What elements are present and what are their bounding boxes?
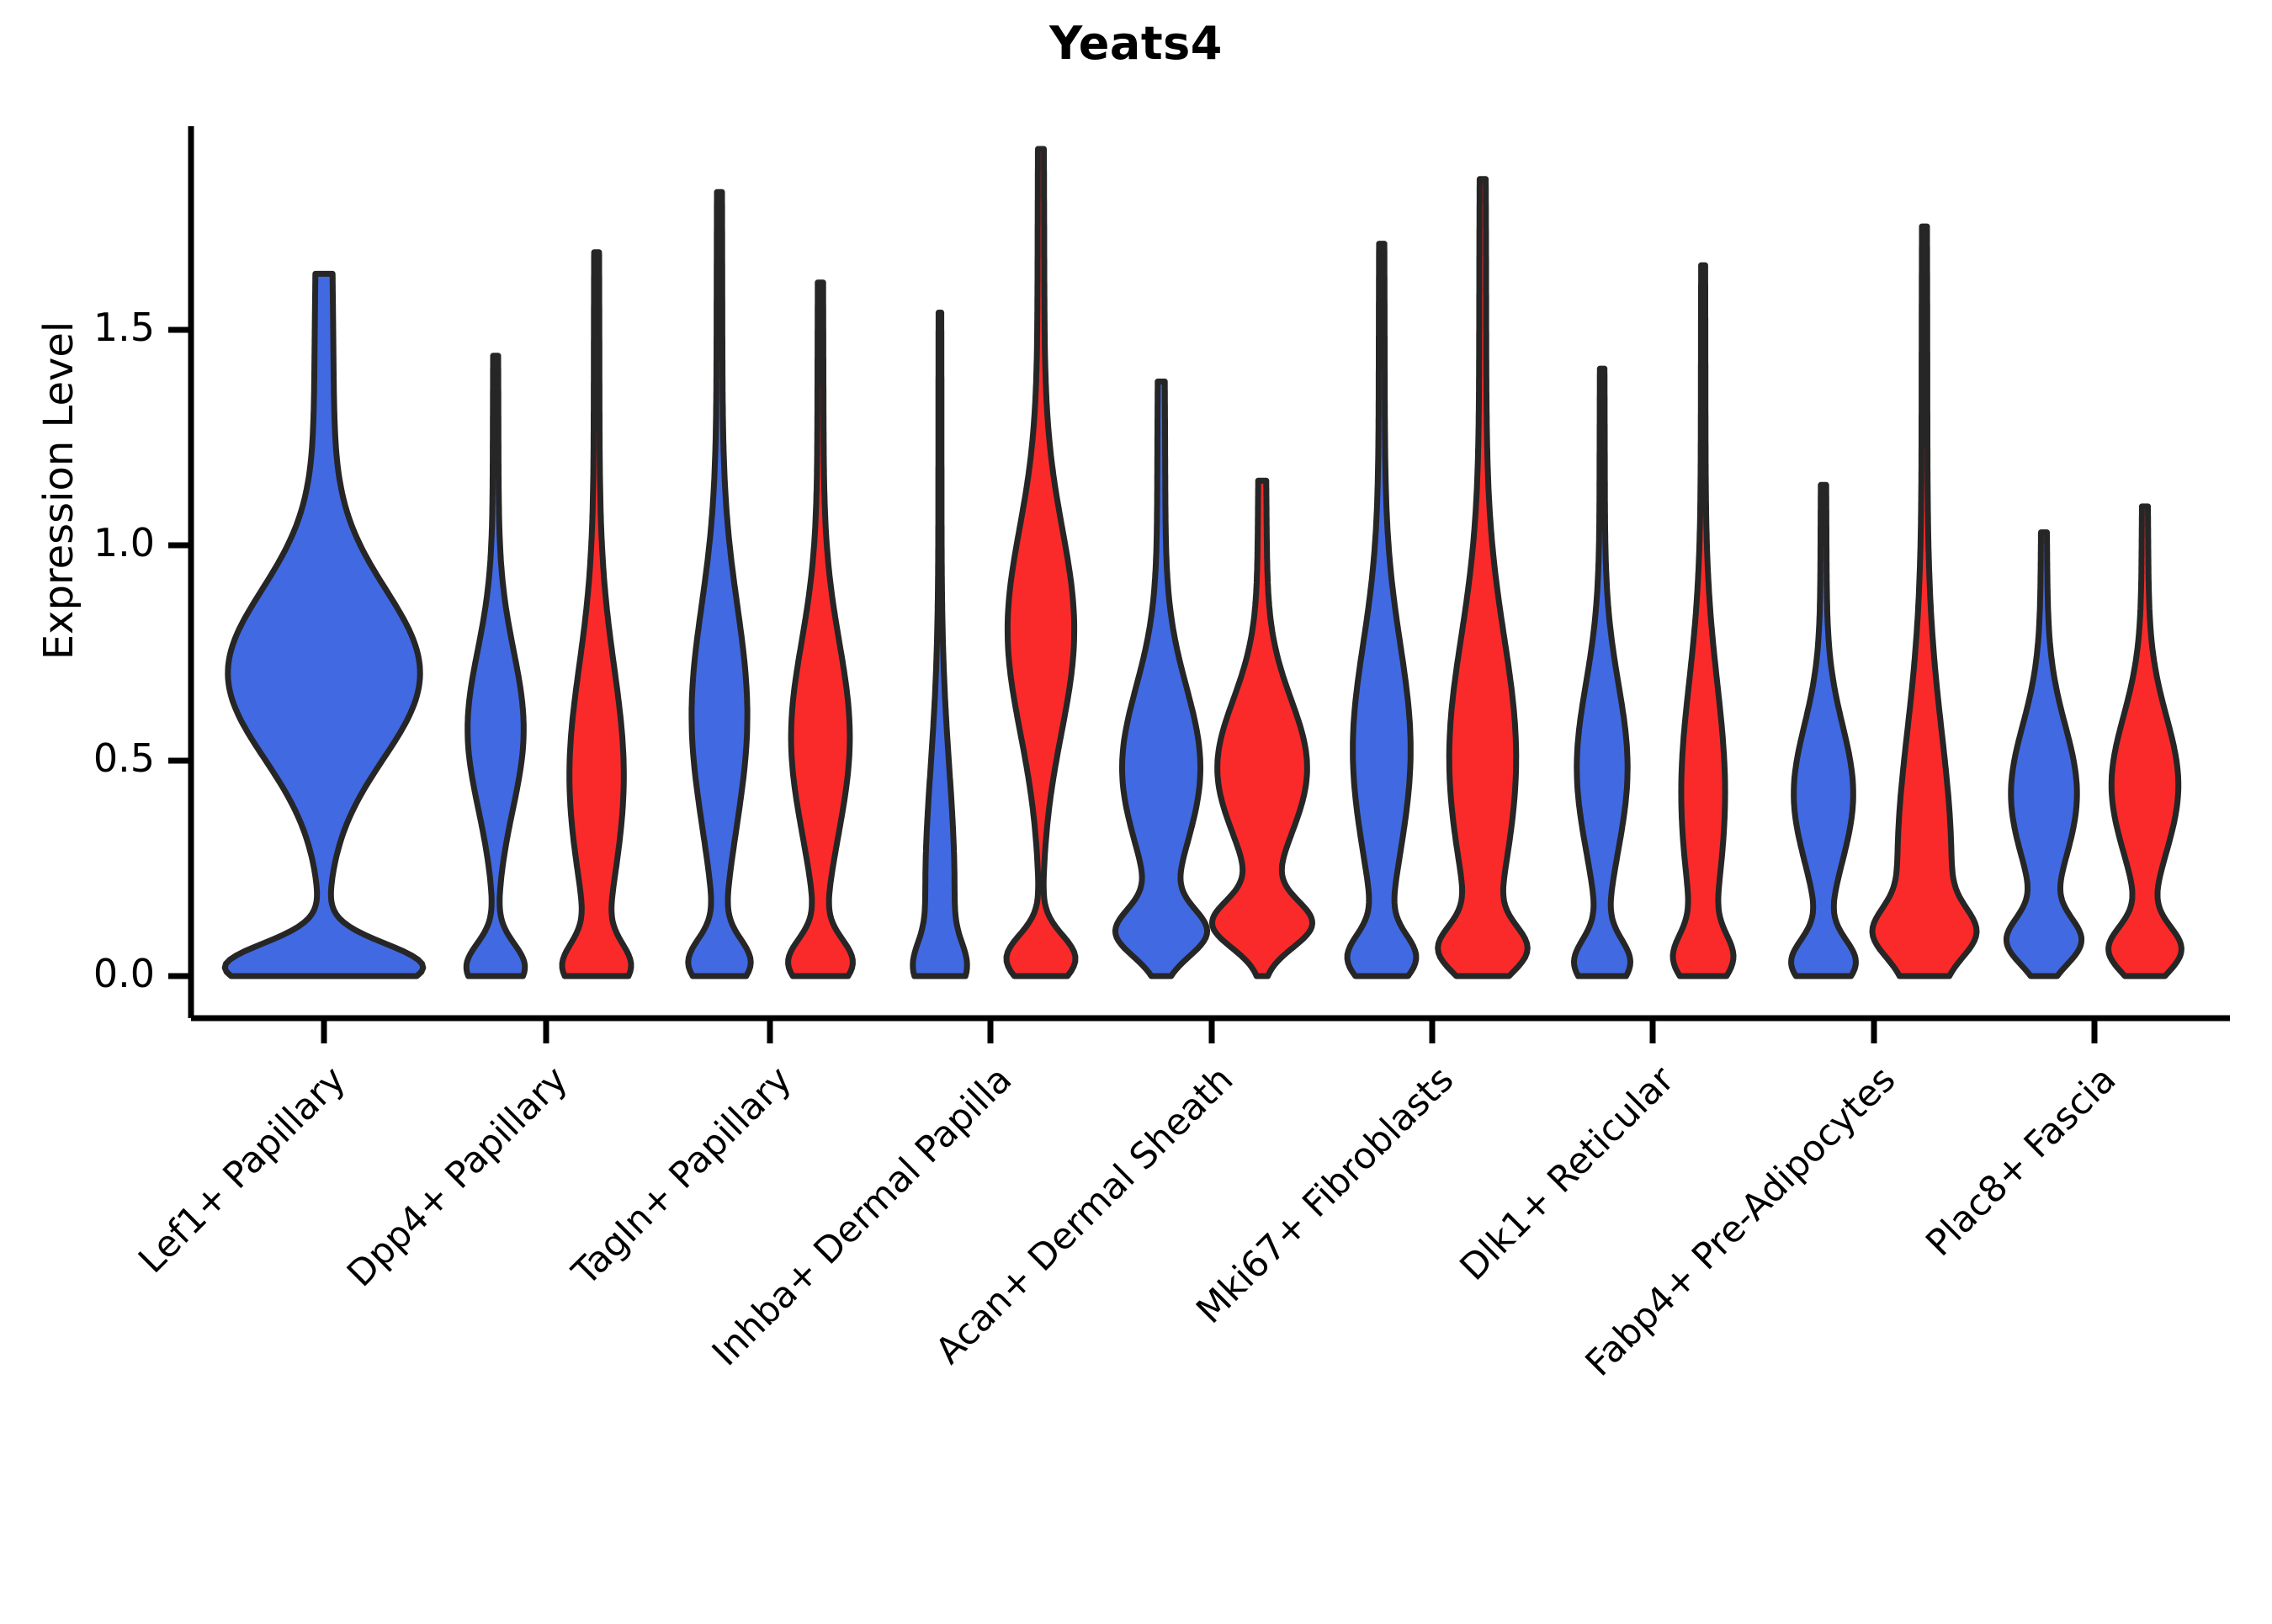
y-tick-label-3: 1.5 — [3, 305, 155, 350]
violin-blue-5[interactable] — [1347, 244, 1416, 976]
violin-red-6[interactable] — [1673, 265, 1733, 976]
violin-red-8[interactable] — [2109, 507, 2182, 976]
violin-red-2[interactable] — [788, 283, 853, 976]
violin-blue-0[interactable] — [225, 273, 423, 976]
y-tick-label-2: 1.0 — [3, 520, 155, 565]
violin-blue-2[interactable] — [688, 192, 751, 976]
violin-layer — [225, 149, 2181, 976]
y-tick-marks — [168, 330, 191, 976]
violin-red-5[interactable] — [1438, 179, 1528, 976]
violin-blue-1[interactable] — [466, 356, 524, 976]
violin-blue-4[interactable] — [1115, 381, 1207, 976]
violin-blue-3[interactable] — [913, 313, 967, 977]
violin-blue-8[interactable] — [2006, 533, 2081, 976]
x-tick-marks — [324, 1018, 2094, 1043]
violin-red-4[interactable] — [1213, 480, 1313, 976]
violin-red-3[interactable] — [1006, 149, 1075, 976]
y-tick-label-1: 0.5 — [3, 735, 155, 781]
violin-red-7[interactable] — [1872, 226, 1977, 976]
violin-blue-7[interactable] — [1792, 485, 1856, 976]
violin-red-1[interactable] — [562, 252, 631, 976]
violin-blue-6[interactable] — [1574, 369, 1631, 976]
y-tick-label-0: 0.0 — [3, 951, 155, 996]
violin-plot-figure: Yeats4 Expression Level 0.00.51.01.5 Lef… — [0, 0, 2272, 1515]
